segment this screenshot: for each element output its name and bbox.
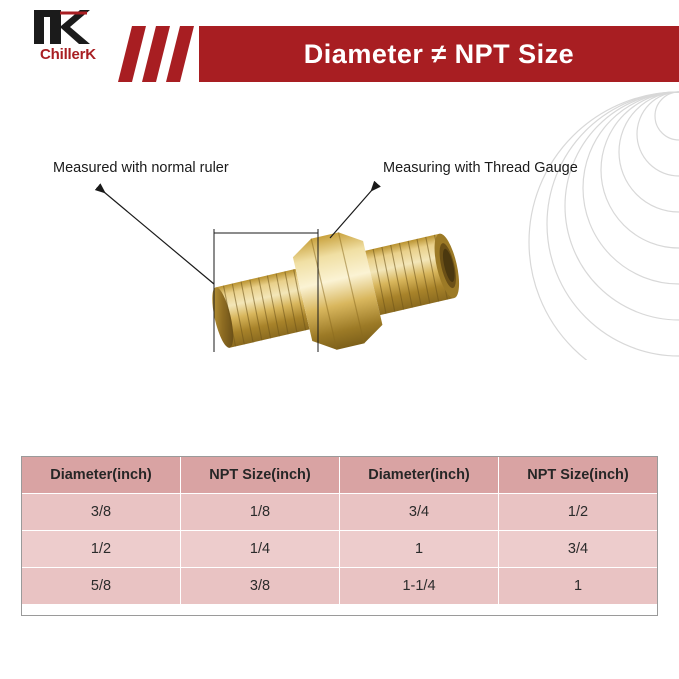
- table-cell-r0c1: 1/8: [181, 494, 340, 531]
- slash-accent-icon: [118, 26, 202, 82]
- page-title: Diameter ≠ NPT Size: [304, 39, 574, 70]
- table-cell-r1c1: 1/4: [181, 531, 340, 568]
- spec-table: Diameter(inch) NPT Size(inch) Diameter(i…: [21, 456, 658, 605]
- table-header-cell-1: NPT Size(inch): [181, 457, 340, 494]
- ck-monogram-icon: [30, 8, 90, 46]
- header-banner: Diameter ≠ NPT Size: [199, 26, 679, 82]
- table-header-cell-3: NPT Size(inch): [499, 457, 658, 494]
- table-cell-r2c0: 5/8: [22, 568, 181, 605]
- table-header-cell-0: Diameter(inch): [22, 457, 181, 494]
- table-cell-r2c3: 1: [499, 568, 658, 605]
- brand-name: ChillerK: [22, 46, 114, 63]
- callout-right-label: Measuring with Thread Gauge: [383, 160, 578, 176]
- table-header-row: Diameter(inch) NPT Size(inch) Diameter(i…: [22, 457, 658, 494]
- table-row: 1/2 1/4 1 3/4: [22, 531, 658, 568]
- table-header-cell-2: Diameter(inch): [340, 457, 499, 494]
- table-cell-r0c2: 3/4: [340, 494, 499, 531]
- brand-logo: ChillerK: [22, 8, 114, 72]
- table-row: 5/8 3/8 1-1/4 1: [22, 568, 658, 605]
- table-row: 3/8 1/8 3/4 1/2: [22, 494, 658, 531]
- table-cell-r2c1: 3/8: [181, 568, 340, 605]
- table-cell-r1c3: 3/4: [499, 531, 658, 568]
- brass-fitting-illustration: [210, 218, 470, 403]
- table-cell-r0c3: 1/2: [499, 494, 658, 531]
- table-cell-r0c0: 3/8: [22, 494, 181, 531]
- table-cell-r2c2: 1-1/4: [340, 568, 499, 605]
- table-cell-r1c0: 1/2: [22, 531, 181, 568]
- callout-left-label: Measured with normal ruler: [53, 160, 229, 176]
- table-cell-r1c2: 1: [340, 531, 499, 568]
- spec-table-wrapper: Diameter(inch) NPT Size(inch) Diameter(i…: [21, 456, 658, 605]
